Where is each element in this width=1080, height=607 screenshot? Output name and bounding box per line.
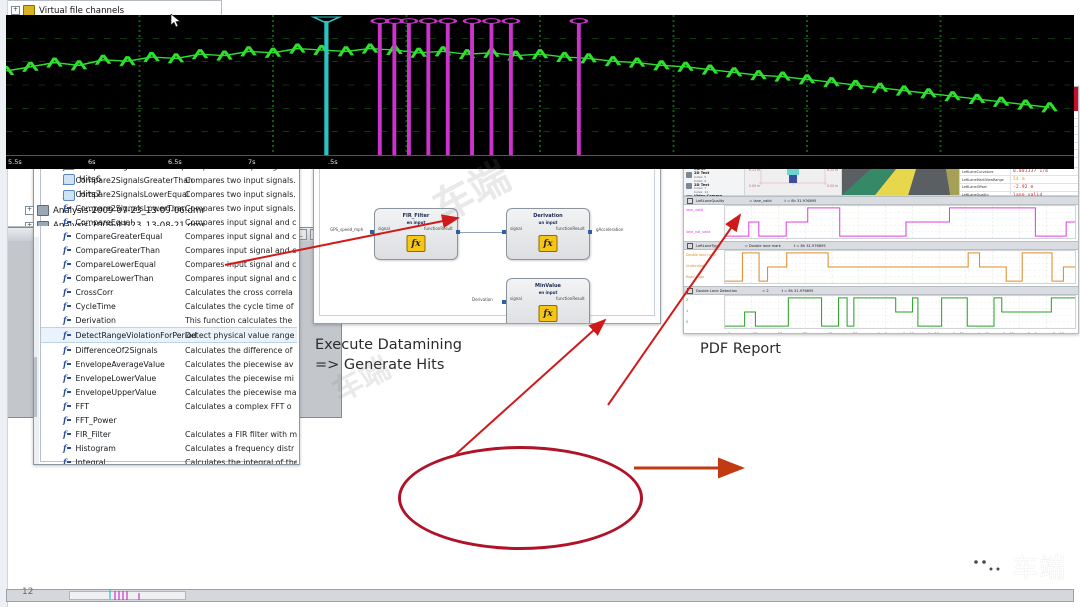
pdf-trace-stack: LeftLaneQuality= lane_validt = 8h 31.976… — [684, 196, 1078, 331]
scrollbar-hit-markers — [103, 590, 163, 601]
label-minvalue-src: Derivation — [472, 297, 493, 302]
wechat-watermark: 车端 — [965, 548, 1066, 585]
table-key: LeftLaneCurvature — [960, 168, 1011, 175]
function-row[interactable]: fIntegralCalculates the integral of the — [41, 455, 297, 465]
pdf-trace[interactable]: LeftLaneType= Double lane markt = 8h 31.… — [684, 241, 1078, 286]
label-gps-speed: GPS_speed_mph — [330, 227, 363, 232]
tree-item-label: Analysis-2009-07-23_13-09-06.dmr — [53, 206, 205, 216]
fx-icon: f — [63, 245, 71, 255]
function-comment: Calculates the difference of — [185, 346, 297, 355]
block-minvalue[interactable]: MinValue en input fx — [506, 278, 590, 324]
fx-icon: f — [63, 415, 71, 425]
trace-label-low: 0 — [686, 320, 688, 324]
trace-label-high: Double lane mark — [686, 253, 716, 257]
wire-fir-to-derivation — [460, 232, 502, 233]
label-gacceleration: gAcceleration — [596, 227, 623, 232]
fx-icon: f — [63, 301, 71, 311]
hits-highlight-ellipse — [398, 446, 643, 550]
fx-icon: f — [63, 443, 71, 453]
trace-label-mid: 1 — [686, 309, 688, 313]
block-subtitle: en input — [507, 290, 589, 295]
time-tick: 40s — [828, 332, 834, 334]
function-comment: Calculates the piecewise av — [185, 360, 297, 369]
scope-x-tick: 6s — [88, 158, 96, 166]
function-comment: Calculates the cycle time of — [185, 302, 297, 311]
scope-x-tick: 7s — [248, 158, 256, 166]
scope-x-tick: .5s — [328, 158, 338, 166]
label-derivation-in: signal — [510, 226, 522, 231]
tree-item-label: Hits7 — [79, 190, 101, 200]
svg-text:0.00 m: 0.00 m — [827, 184, 838, 188]
function-name: Derivation — [75, 316, 116, 325]
port-in-minvalue — [502, 300, 506, 304]
function-name: EnvelopeUpperValue — [75, 388, 156, 397]
function-name: CompareGreaterEqual — [75, 232, 162, 241]
function-comment: Calculates a frequency distr — [185, 444, 297, 453]
function-name: CompareGreaterThan — [75, 246, 160, 255]
object-icon — [686, 172, 692, 178]
function-comment: Calculates the piecewise mi — [185, 374, 297, 383]
scope-scrollbar[interactable] — [6, 589, 1074, 602]
function-row[interactable]: fEnvelopeAverageValueCalculates the piec… — [41, 357, 297, 371]
function-row[interactable]: fFIR_FilterCalculates a FIR filter with … — [41, 427, 297, 441]
function-name: FIR_Filter — [75, 430, 110, 439]
function-row[interactable]: fCompareLowerThanCompares input signal a… — [41, 271, 297, 285]
function-comment: Calculates the integral of the — [185, 458, 297, 466]
trace-header: LeftLaneType= Double lane markt = 8h 31.… — [684, 242, 1078, 250]
tree-item-hits6[interactable]: Hits6 — [11, 172, 221, 187]
watermark-text: 车端 — [1012, 548, 1066, 585]
block-name: MinValue — [507, 283, 589, 289]
fx-icon: f — [63, 359, 71, 369]
trace-title: LeftLaneQuality — [696, 199, 724, 203]
tree-item-label: Hits6 — [79, 175, 101, 185]
function-name: EnvelopeLowerValue — [75, 374, 156, 383]
fx-icon: f — [63, 429, 71, 439]
function-comment: Compares input signal and c — [185, 246, 297, 255]
trace-label-low: lane_not_valid — [686, 230, 710, 234]
function-row[interactable]: fCompareGreaterThanCompares input signal… — [41, 243, 297, 257]
label-minvalue-out: functionResult — [556, 296, 585, 301]
block-subtitle: en input — [375, 220, 457, 225]
function-comment: Calculates the piecewise ma — [185, 388, 297, 397]
function-name: CompareLowerThan — [75, 274, 153, 283]
tree-expander[interactable]: + — [25, 206, 34, 215]
simulink-canvas[interactable]: FIR_Filter en input fx GPS_speed_mph sig… — [319, 167, 655, 316]
function-comment: Compares input signal and c — [185, 232, 297, 241]
function-name: CompareLowerEqual — [75, 260, 156, 269]
trace-label-high: 2 — [686, 298, 688, 302]
fx-icon: f — [63, 330, 71, 340]
table-value: 54 m — [1011, 176, 1078, 183]
analysis-icon — [37, 205, 49, 216]
port-in-derivation — [502, 230, 506, 234]
function-comment: This function calculates the — [185, 316, 297, 325]
fx-icon: fx — [539, 305, 558, 322]
scope-x-tick: 6.5s — [168, 158, 182, 166]
pdf-table-row: LeftLaneOffset-2.92 m — [960, 184, 1078, 192]
fx-icon: f — [63, 345, 71, 355]
pdf-table-row: LeftLaneCurvature0.001337 1/m — [960, 168, 1078, 176]
table-key: LeftLaneOffset — [960, 184, 1011, 191]
time-tick: 1m 20s — [928, 332, 941, 334]
function-row[interactable]: fEnvelopeUpperValueCalculates the piecew… — [41, 385, 297, 399]
page-number: 12 — [22, 587, 33, 597]
trace-plot — [724, 250, 1076, 284]
trace-label-mid: Undecided — [686, 264, 704, 268]
time-tick: 30s — [803, 332, 809, 334]
hit-icon — [63, 174, 75, 185]
port-in-fir — [370, 230, 374, 234]
trace-checkbox[interactable] — [687, 198, 693, 204]
trace-time: t = 8h 31.976895 — [782, 289, 814, 293]
time-tick: 2m 0s — [1028, 332, 1038, 334]
function-comment: Detect physical value range — [185, 331, 297, 340]
tree-item-hits7[interactable]: Hits7 — [11, 188, 221, 203]
trace-checkbox[interactable] — [687, 243, 693, 249]
pdf-trace[interactable]: Double Lane Detection= 2t = 8h 31.976895… — [684, 286, 1078, 331]
function-name: CycleTime — [75, 302, 115, 311]
block-name: FIR_Filter — [375, 213, 457, 219]
function-name: Integral — [75, 458, 105, 466]
trace-label-high: lane_valid — [686, 208, 703, 212]
trace-title: Double Lane Detection — [696, 289, 737, 293]
fx-icon: f — [63, 315, 71, 325]
caption-execute-datamining: Execute Datamining => Generate Hits — [315, 336, 462, 375]
function-row[interactable]: fDetectRangeViolationForPeriodDetect phy… — [41, 327, 297, 343]
function-row[interactable]: fHistogramCalculates a frequency distr — [41, 441, 297, 455]
time-tick: 50s — [853, 332, 859, 334]
caption-pdf-report: PDF Report — [700, 340, 781, 360]
trace-plot — [724, 205, 1076, 239]
scrollbar-thumb[interactable] — [34, 357, 37, 417]
time-tick: 1m 50s — [1003, 332, 1016, 334]
block-fir-filter[interactable]: FIR_Filter en input fx — [374, 208, 458, 260]
trace-label-low: Road edge — [686, 275, 704, 279]
tree-expander[interactable]: + — [11, 6, 20, 15]
svg-text:0.00 m: 0.00 m — [749, 184, 760, 188]
function-row[interactable]: fCompareLowerEqualCompares input signal … — [41, 257, 297, 271]
pdf-table-row: LeftLaneMarkViewRange54 m — [960, 176, 1078, 184]
time-tick: 2m 10s — [1053, 332, 1066, 334]
function-name: DetectRangeViolationForPeriod — [75, 331, 196, 340]
fx-icon: f — [63, 457, 71, 465]
fx-icon: fx — [407, 235, 426, 252]
tree-item-analysis-2009-07-23-13-09-06-dmr[interactable]: +Analysis-2009-07-23_13-09-06.dmr — [11, 203, 221, 218]
slide-root: ADAS Logging Solution – Software (Data A… — [0, 0, 1080, 607]
block-name: Derivation — [507, 213, 589, 219]
time-tick: 1m 10s — [903, 332, 916, 334]
wechat-icon — [965, 552, 1007, 582]
function-comment: Calculates a FIR filter with m — [185, 430, 297, 439]
time-tick: 1m 40s — [978, 332, 991, 334]
trace-checkbox[interactable] — [687, 288, 693, 294]
trace-value: = 2 — [762, 289, 768, 293]
table-key: LeftLaneMarkViewRange — [960, 176, 1011, 183]
trace-value: = lane_valid — [749, 199, 771, 203]
fx-icon: fx — [539, 235, 558, 252]
fx-icon: f — [63, 259, 71, 269]
time-tick: 0s — [728, 332, 732, 334]
trace-plot — [724, 295, 1076, 329]
function-name: DifferenceOf2Signals — [75, 346, 157, 355]
table-value: -2.92 m — [1011, 184, 1078, 191]
trace-title: LeftLaneType — [696, 244, 720, 248]
block-derivation[interactable]: Derivation un input fx — [506, 208, 590, 260]
function-row[interactable]: fFFTCalculates a complex FFT o — [41, 399, 297, 413]
trace-header: Double Lane Detection= 2t = 8h 31.976895 — [684, 287, 1078, 295]
fx-icon: f — [63, 387, 71, 397]
object-icon — [686, 183, 692, 189]
scope-x-axis: 5.5s6s6.5s7s.5s — [6, 155, 1074, 169]
function-comment: Compares input signal and c — [185, 274, 297, 283]
mouse-cursor-icon — [170, 14, 182, 28]
label-derivation-out: functionResult — [556, 226, 585, 231]
fx-icon: f — [63, 273, 71, 283]
function-row[interactable]: fDerivationThis function calculates the — [41, 313, 297, 327]
function-comment: Calculates the cross correla — [185, 288, 297, 297]
function-row[interactable]: fEnvelopeLowerValueCalculates the piecew… — [41, 371, 297, 385]
trace-header: LeftLaneQuality= lane_validt = 8h 31.976… — [684, 197, 1078, 205]
trace-time: t = 8h 31.976895 — [785, 199, 817, 203]
time-tick: 1m 30s — [953, 332, 966, 334]
time-tick: 1m 0s — [878, 332, 888, 334]
function-row[interactable]: fCrossCorrCalculates the cross correla — [41, 285, 297, 299]
pdf-trace[interactable]: LeftLaneQuality= lane_validt = 8h 31.976… — [684, 196, 1078, 241]
scope-plot-area[interactable] — [6, 15, 1074, 155]
trace-value: = Double lane mark — [745, 244, 781, 248]
function-name: FFT — [75, 402, 89, 411]
arrow-hits-to-simulink — [455, 320, 605, 455]
pdf-time-axis: 0s10s20s30s40s50s1m 0s1m 10s1m 20s1m 30s… — [684, 331, 1078, 334]
table-value: 0.001337 1/m — [1011, 168, 1078, 175]
function-row[interactable]: fDifferenceOf2SignalsCalculates the diff… — [41, 343, 297, 357]
scope-x-tick: 5.5s — [8, 158, 22, 166]
function-name: Histogram — [75, 444, 115, 453]
label-fir-in: signal — [378, 226, 390, 231]
function-comment: Compares input signal and c — [185, 260, 297, 269]
trace-time: t = 8h 31.976895 — [794, 244, 826, 248]
fx-icon: f — [63, 231, 71, 241]
time-tick: 20s — [778, 332, 784, 334]
label-fir-out: functionResult — [424, 226, 453, 231]
fx-icon: f — [63, 401, 71, 411]
hit-icon — [63, 190, 75, 201]
block-subtitle: un input — [507, 220, 589, 225]
function-row[interactable]: fCycleTimeCalculates the cycle time of — [41, 299, 297, 313]
function-comment: Calculates a complex FFT o — [185, 402, 297, 411]
function-row[interactable]: fCompareGreaterEqualCompares input signa… — [41, 229, 297, 243]
function-row[interactable]: fFFT_Power — [41, 413, 297, 427]
fx-icon: f — [63, 373, 71, 383]
port-out-derivation — [588, 230, 592, 234]
function-list-scrollbar[interactable] — [34, 237, 39, 465]
time-tick: 10s — [753, 332, 759, 334]
tree-item-analysis-2009-07-23-13-08-21-dmr[interactable]: +Analysis-2009-07-23_13-08-21.dmr — [11, 218, 221, 227]
function-name: EnvelopeAverageValue — [75, 360, 164, 369]
label-minvalue-in: signal — [510, 296, 522, 301]
fx-icon: f — [63, 287, 71, 297]
function-name: FFT_Power — [75, 416, 116, 425]
function-name: CrossCorr — [75, 288, 113, 297]
